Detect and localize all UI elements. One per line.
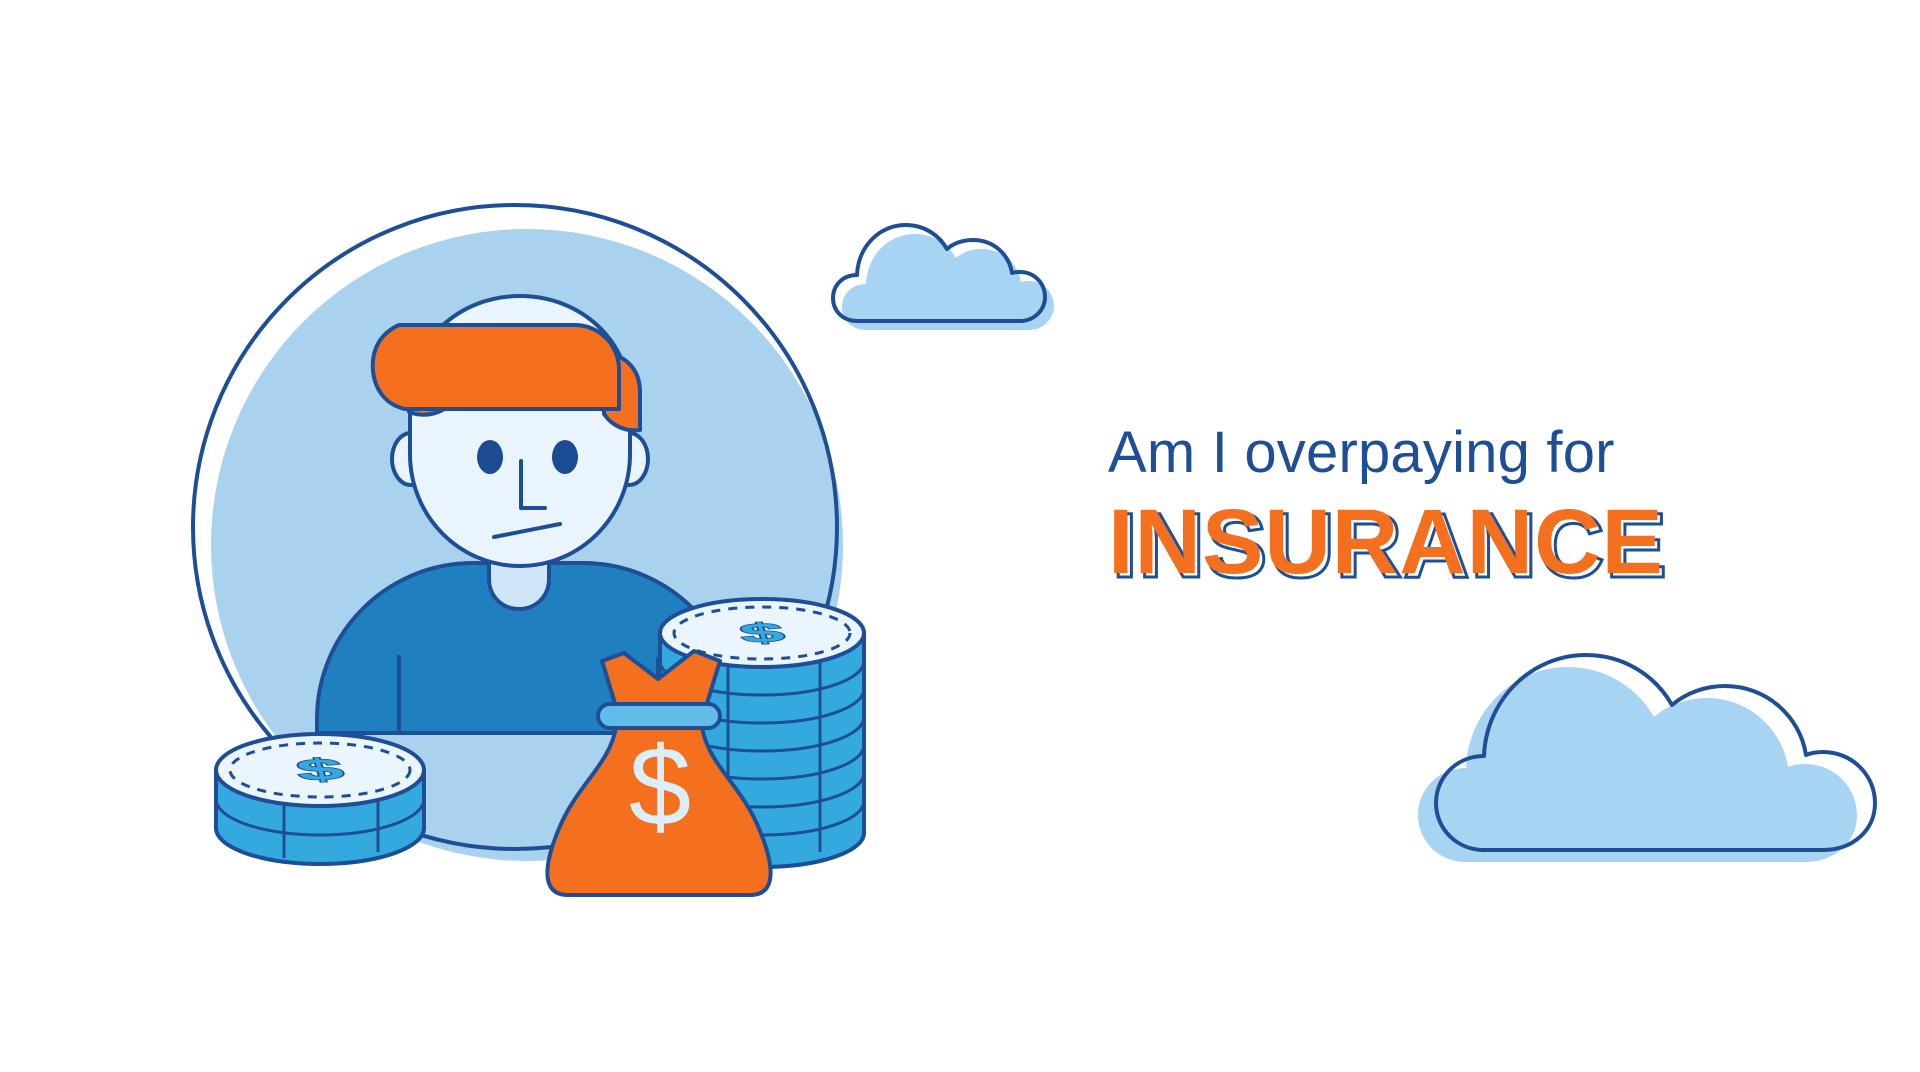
- headline-block: Am I overpaying for INSURANCE INSURANCE: [1108, 424, 1868, 592]
- cloud-large: [1418, 655, 1875, 862]
- dollar-sign-icon: $: [629, 724, 691, 849]
- coin-stack-short: $: [216, 734, 424, 864]
- dollar-sign-icon: $: [736, 617, 788, 648]
- slide-canvas: $ $ $ Am I overp: [0, 0, 1920, 1072]
- headline-insurance-fill: INSURANCE: [1108, 496, 1664, 588]
- headline-line-1: Am I overpaying for: [1108, 424, 1868, 482]
- headline-line-2: INSURANCE INSURANCE: [1108, 496, 1868, 592]
- svg-text:$: $: [736, 617, 788, 648]
- cloud-small: [833, 225, 1054, 330]
- dollar-sign-icon: $: [293, 753, 348, 788]
- svg-text:$: $: [293, 753, 348, 788]
